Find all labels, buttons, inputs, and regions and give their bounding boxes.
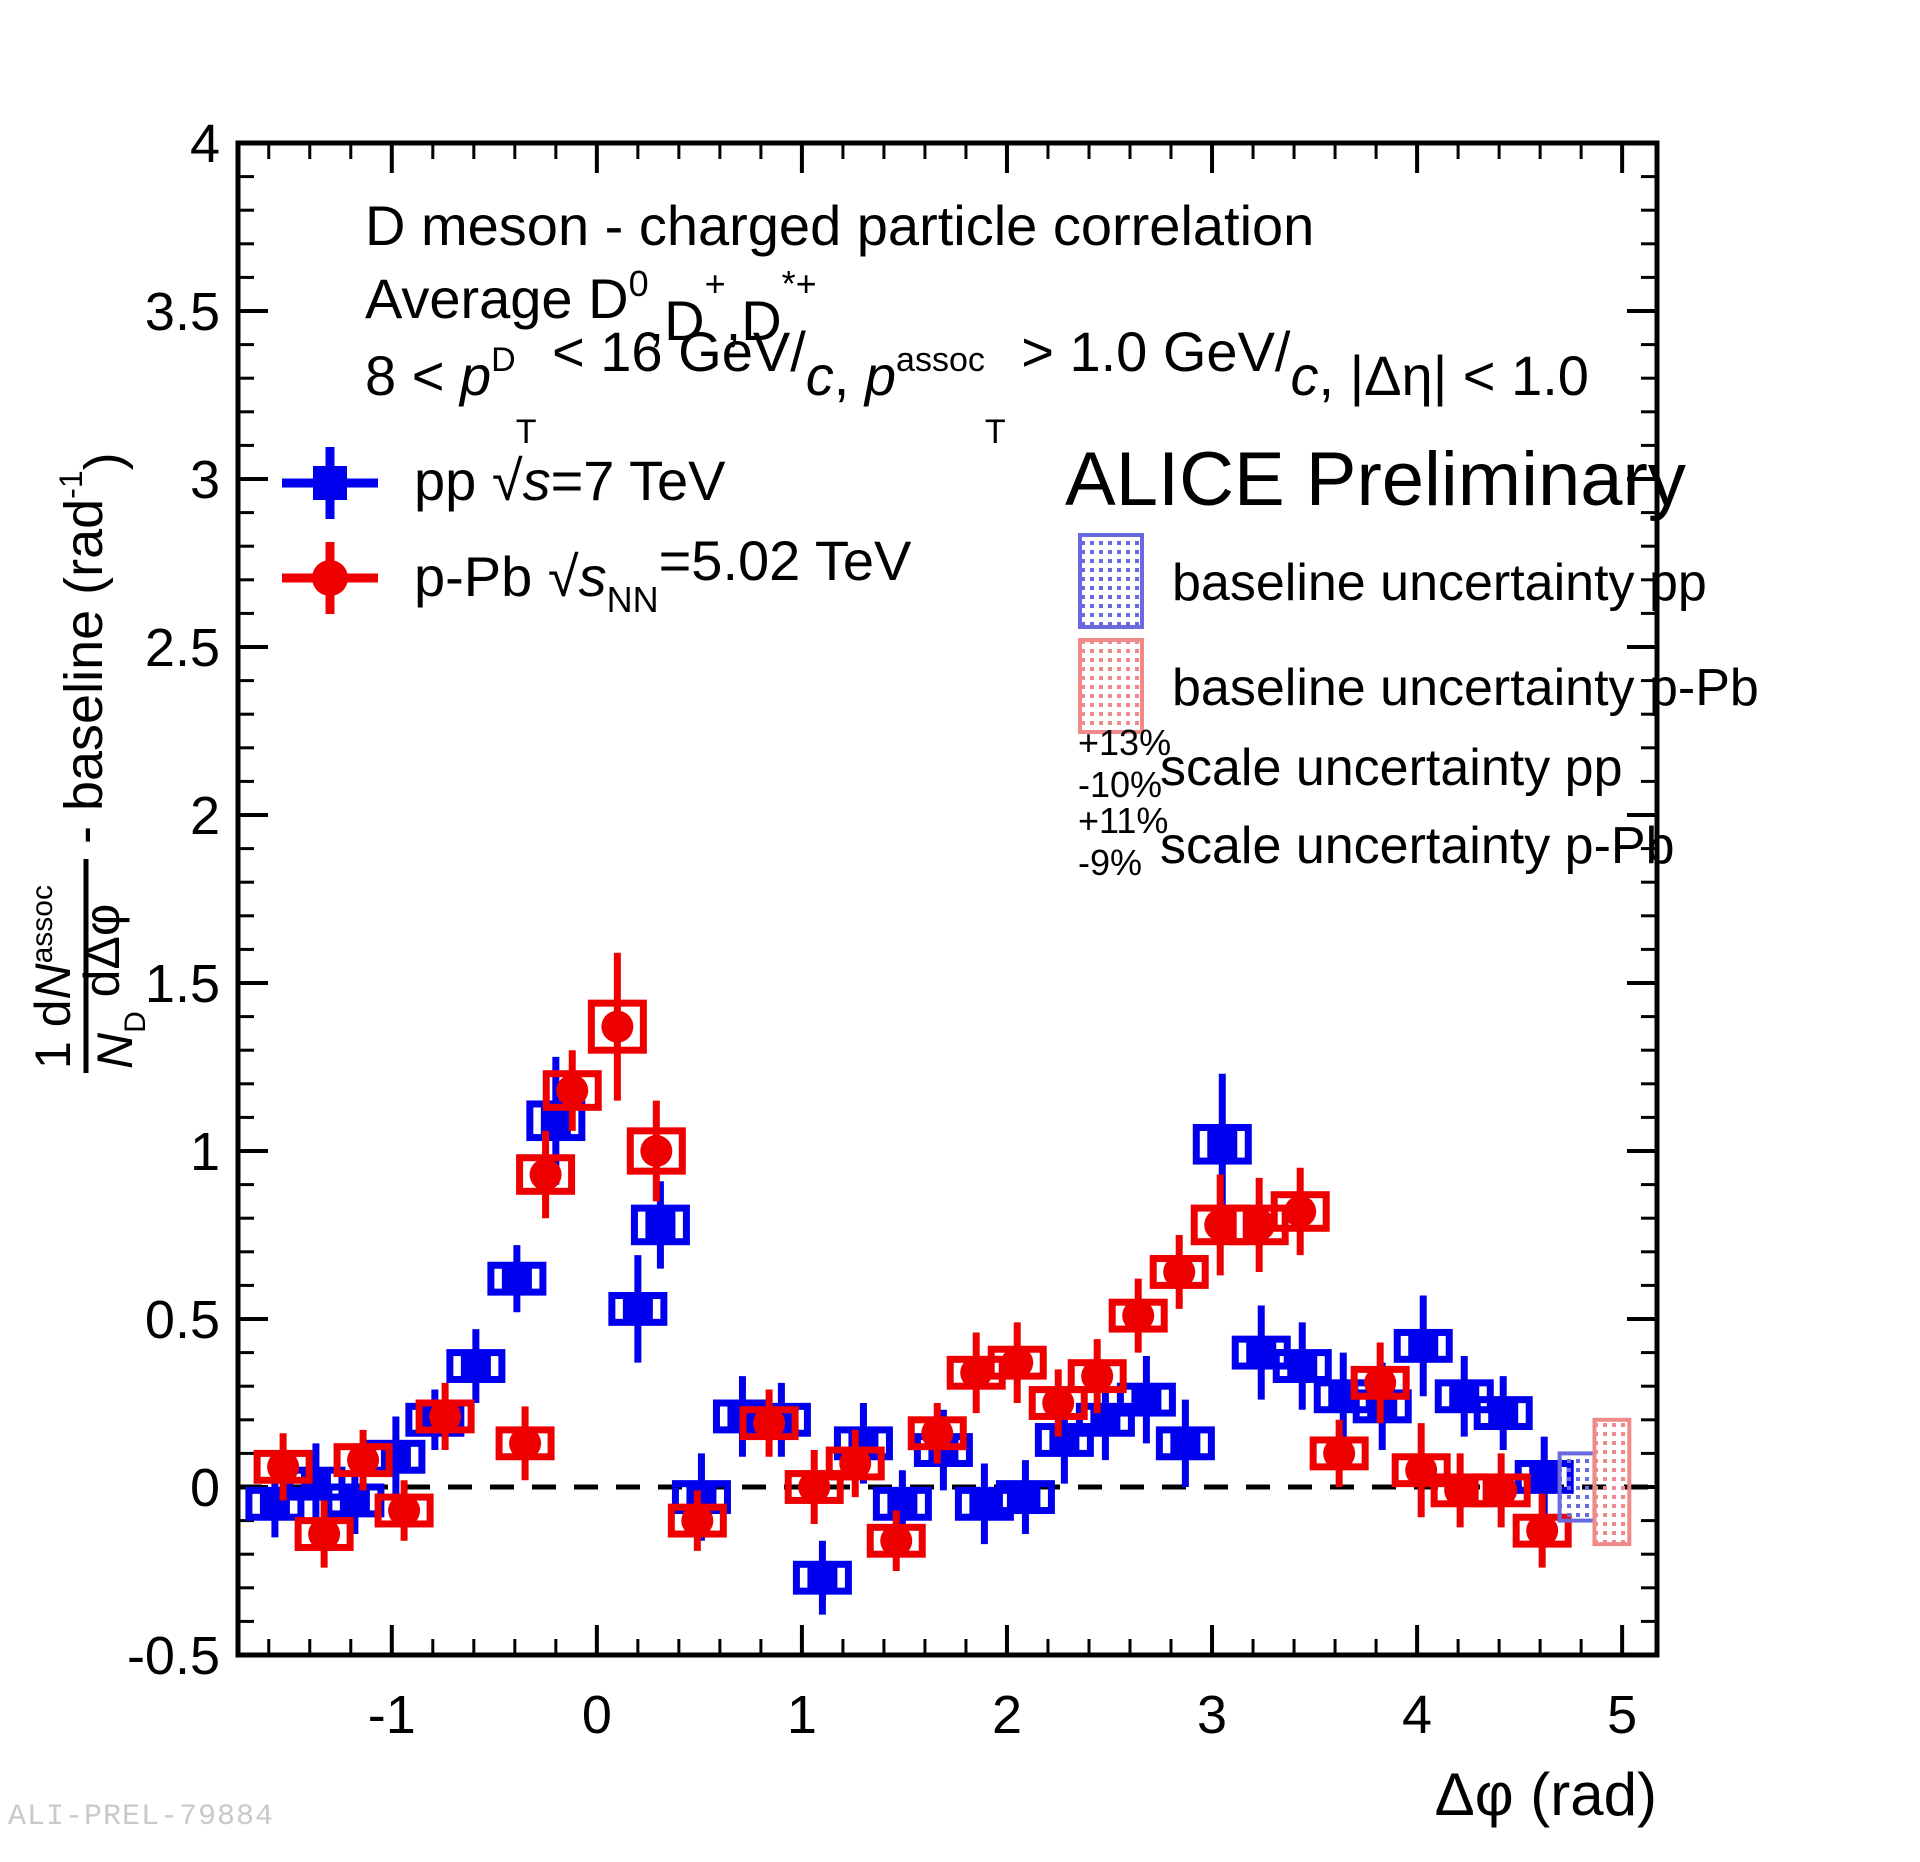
marker-circle [1485,1474,1517,1506]
marker-circle [798,1471,830,1503]
marker-circle [1526,1515,1558,1547]
legend-marker-square [313,466,347,500]
legend-baseline-ppb [1080,640,1142,732]
marker-circle [1163,1256,1195,1288]
marker-circle [1081,1360,1113,1392]
legend-baseline-ppb-swatch [1080,640,1142,732]
marker-circle [347,1444,379,1476]
x-tick-label: 4 [1402,1685,1432,1745]
x-tick-label: 2 [992,1685,1022,1745]
plot-canvas: -1012345-0.500.511.522.533.54Δφ (rad)1 d… [0,0,1920,1862]
y-tick-label: 1.5 [145,954,220,1014]
marker-circle [640,1135,672,1167]
scale-uncertainty-ppb-down: -9% [1078,842,1142,883]
legend-label-pp: pp √s=7 TeV [414,449,726,512]
marker-circle [921,1417,953,1449]
legend-baseline-pp [1080,535,1142,627]
marker-square [1010,1482,1040,1512]
marker-circle [1243,1209,1275,1241]
marker-circle [1323,1437,1355,1469]
scale-uncertainty-ppb-up: +11% [1078,800,1168,841]
y-tick-label: 2 [190,786,220,846]
scale-uncertainty-pp-up: +13% [1078,722,1171,763]
marker-circle [839,1447,871,1479]
scale-uncertainty-ppb-label: scale uncertainty p-Pb [1160,817,1675,875]
x-tick-label: 3 [1197,1685,1227,1745]
y-tick-label: 1 [190,1122,220,1182]
y-tick-label: 3.5 [145,282,220,342]
x-tick-label: 1 [787,1685,817,1745]
marker-circle [1364,1367,1396,1399]
marker-square [1529,1462,1559,1492]
marker-square [645,1210,675,1240]
marker-circle [601,1011,633,1043]
y-tick-label: 0 [190,1458,220,1518]
marker-circle [388,1495,420,1527]
marker-circle [880,1525,912,1557]
marker-circle [1444,1474,1476,1506]
legend-marker-circle [312,560,348,596]
marker-square [1170,1428,1200,1458]
marker-circle [1001,1347,1033,1379]
y-tick-label: 2.5 [145,618,220,678]
marker-circle [429,1400,461,1432]
marker-circle [960,1357,992,1389]
marker-square [1246,1338,1276,1368]
marker-square [1287,1351,1317,1381]
marker-circle [530,1159,562,1191]
marker-circle [308,1518,340,1550]
marker-square [1131,1385,1161,1415]
alice-preliminary-label: ALICE Preliminary [1065,437,1686,522]
watermark-label: ALI-PREL-79884 [8,1800,274,1834]
y-tick-label: 4 [190,114,220,174]
marker-circle [267,1451,299,1483]
marker-square [969,1489,999,1519]
y-tick-label: -0.5 [127,1626,220,1686]
marker-square [502,1264,532,1294]
marker-square [461,1351,491,1381]
figure-background [0,0,1920,1862]
marker-square [1207,1129,1237,1159]
marker-square [1049,1425,1079,1455]
legend-baseline-ppb-label: baseline uncertainty p-Pb [1172,659,1759,717]
x-axis-title: Δφ (rad) [1435,1761,1657,1828]
y-tick-label: 3 [190,450,220,510]
marker-square [1488,1398,1518,1428]
marker-circle [556,1075,588,1107]
marker-circle [1284,1195,1316,1227]
marker-circle [509,1427,541,1459]
marker-circle [681,1505,713,1537]
baseline-uncertainty-pp-box [1560,1453,1595,1520]
y-tick-label: 0.5 [145,1290,220,1350]
scale-uncertainty-pp-down: -10% [1078,764,1162,805]
legend-baseline-pp-swatch [1080,535,1142,627]
x-tick-label: 0 [582,1685,612,1745]
marker-circle [753,1407,785,1439]
x-tick-label: -1 [368,1685,416,1745]
marker-square [807,1563,837,1593]
legend-baseline-pp-label: baseline uncertainty pp [1172,554,1707,612]
x-tick-label: 5 [1607,1685,1637,1745]
marker-circle [1122,1300,1154,1332]
correlation-plot: -1012345-0.500.511.522.533.54Δφ (rad)1 d… [0,0,1920,1862]
marker-square [623,1294,653,1324]
baseline-uncertainty-ppb-box [1594,1420,1629,1544]
marker-square [887,1489,917,1519]
annotation-title: D meson - charged particle correlation [365,194,1314,257]
scale-uncertainty-pp-label: scale uncertainty pp [1160,739,1623,797]
marker-square [1408,1331,1438,1361]
